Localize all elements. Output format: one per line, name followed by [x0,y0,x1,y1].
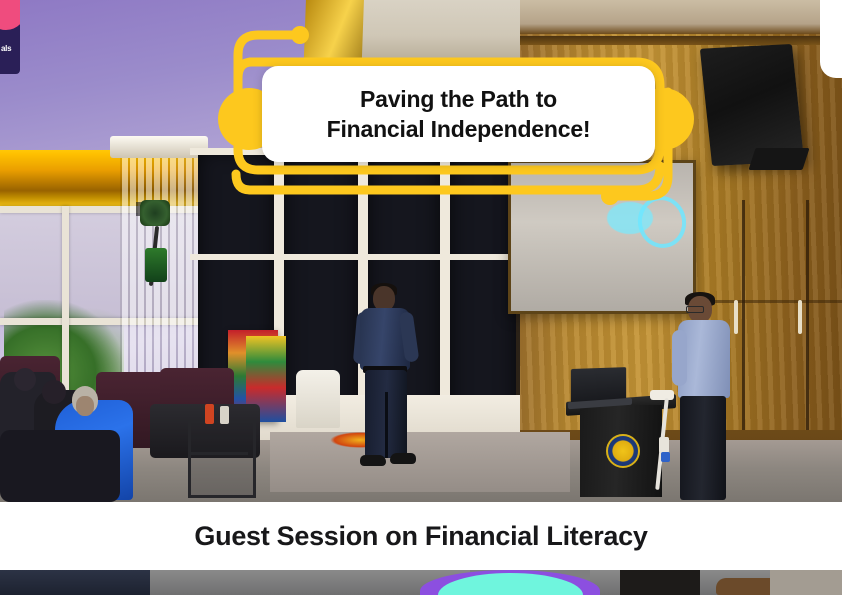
next-card-figure-left [0,570,150,595]
caption-title: Guest Session on Financial Literacy [194,521,647,552]
slideshow-stage: Paving the Path to Financial Independenc… [0,0,842,595]
audience-front-row [0,430,120,502]
glasses-icon [686,306,704,313]
card-corner-notch [820,0,842,78]
presenter-standing-shoe-left [360,455,386,466]
audience-member-face [76,396,94,416]
presenter-podium-arm [672,330,687,386]
side-table [188,420,256,498]
previous-card-text: als [1,44,11,53]
plastic-chair [296,370,340,428]
bottle [205,404,214,424]
side-table-shelf [190,452,248,455]
next-card-shoe [716,578,774,595]
stage-riser [270,432,570,492]
green-wall-box [145,248,167,282]
photo-card[interactable]: Paving the Path to Financial Independenc… [0,0,842,502]
next-card-peek[interactable] [0,570,842,595]
podium-emblem-icon [606,434,640,468]
previous-card-circle [0,0,20,30]
event-photo [0,0,842,502]
cabinet-handle[interactable] [798,300,802,334]
audience-member-head [14,368,36,391]
bottle [220,406,229,424]
next-card-right-edge [770,570,842,595]
presenter-podium-legs [680,396,726,500]
pa-speaker-bracket [748,148,809,170]
presenter-standing-shoe-right [390,453,416,464]
wall-rail [520,36,842,45]
bay-frame [190,254,524,260]
cabinet-door-split [742,200,745,430]
audience-member-head [42,380,66,404]
bay-frame [190,148,524,155]
cable-clip [659,437,669,453]
previous-card-peek[interactable]: als [0,0,20,74]
cabinet-handle[interactable] [734,300,738,334]
next-card-figure-right [620,570,700,595]
caption-band: Guest Session on Financial Literacy [0,502,842,570]
cable-box [650,390,674,400]
cabinet-door-split [806,200,809,430]
cable-plug [661,452,670,462]
presenter-standing-leg-split [385,392,388,458]
wall-upper-trim [520,0,842,34]
wall-fan [140,200,170,226]
